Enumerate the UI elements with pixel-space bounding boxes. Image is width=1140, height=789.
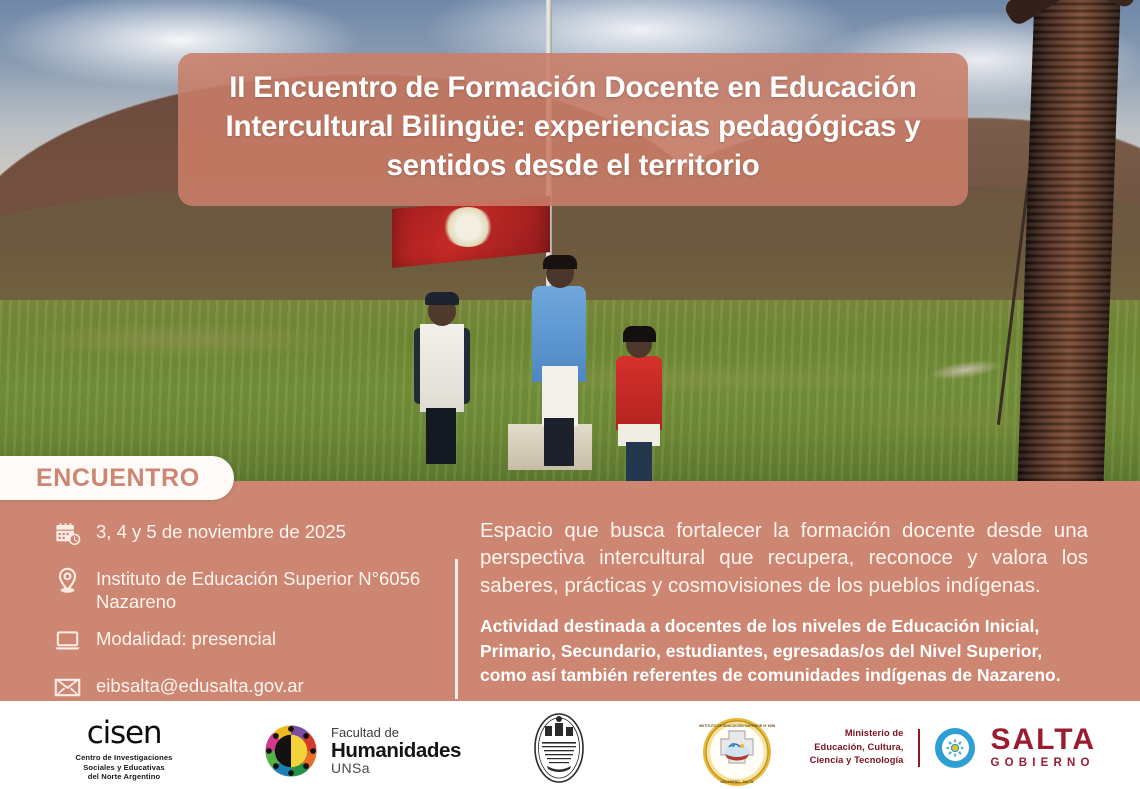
- svg-text:INSTITUTO DE EDUCACIÓN SUPERIO: INSTITUTO DE EDUCACIÓN SUPERIOR Nº 6056: [699, 723, 775, 728]
- cisen-wordmark: cisen: [60, 718, 188, 749]
- ministry-label: Ministerio de Educación, Cultura, Cienci…: [810, 727, 904, 767]
- unsa-line-3: UNSa: [331, 761, 461, 776]
- calendar-clock-icon: [52, 518, 82, 548]
- unsa-university-seal-icon: [533, 712, 585, 784]
- detail-date: 3, 4 y 5 de noviembre de 2025: [52, 518, 456, 548]
- salta-wordmark: SALTA GOBIERNO: [990, 726, 1096, 769]
- unsa-humanidades-circle-icon: [262, 722, 320, 780]
- flag-emblem: [442, 207, 494, 247]
- event-details-list: 3, 4 y 5 de noviembre de 2025 Instituto …: [0, 513, 456, 719]
- description-paragraph: Espacio que busca fortalecer la formació…: [480, 517, 1088, 599]
- title-banner: II Encuentro de Formación Docente en Edu…: [178, 53, 968, 206]
- location-pin-icon: [52, 565, 82, 595]
- child-figure-left: [414, 296, 470, 466]
- unsa-wordmark: Facultad de Humanidades UNSa: [331, 726, 461, 776]
- panel-body: 3, 4 y 5 de noviembre de 2025 Instituto …: [0, 513, 1140, 719]
- detail-modality-text: Modalidad: presencial: [96, 625, 276, 651]
- page-title: II Encuentro de Formación Docente en Edu…: [204, 69, 942, 186]
- section-tab-label: ENCUENTRO: [36, 464, 200, 493]
- detail-date-text: 3, 4 y 5 de noviembre de 2025: [96, 518, 346, 544]
- logo-cisen: cisen Centro de Investigaciones Sociales…: [60, 718, 188, 782]
- laptop-icon: [52, 625, 82, 655]
- audience-paragraph: Actividad destinada a docentes de los ni…: [480, 614, 1088, 689]
- tree-trunk: [1017, 0, 1120, 482]
- detail-venue-text: Instituto de Educación Superior N°6056 N…: [96, 565, 456, 613]
- flyer-root: II Encuentro de Formación Docente en Edu…: [0, 0, 1140, 789]
- salta-sun-shield-icon: [935, 728, 975, 768]
- unsa-line-1: Facultad de: [331, 726, 461, 740]
- envelope-icon: [52, 672, 82, 702]
- detail-email[interactable]: eibsalta@edusalta.gov.ar: [52, 672, 456, 702]
- ies-6056-nazareno-seal-icon: INSTITUTO DE EDUCACIÓN SUPERIOR Nº 6056 …: [699, 716, 775, 788]
- detail-venue: Instituto de Educación Superior N°6056 N…: [52, 565, 456, 613]
- svg-text:NAZARENO - SALTA: NAZARENO - SALTA: [720, 780, 754, 784]
- cisen-subtitle: Centro de Investigaciones Sociales y Edu…: [60, 753, 188, 782]
- info-panel: ENCUENTRO: [0, 481, 1140, 701]
- detail-modality: Modalidad: presencial: [52, 625, 456, 655]
- unsa-line-2: Humanidades: [331, 740, 461, 762]
- salta-name: SALTA: [990, 726, 1096, 755]
- salta-subtitle: GOBIERNO: [990, 758, 1096, 770]
- logo-humanidades-unsa: Facultad de Humanidades UNSa: [262, 722, 461, 780]
- child-figure-right: [612, 330, 668, 480]
- child-figure-center: [528, 258, 590, 468]
- column-divider: [455, 559, 458, 699]
- description-column: Espacio que busca fortalecer la formació…: [456, 513, 1140, 719]
- section-tab-encuentro: ENCUENTRO: [0, 456, 234, 500]
- logo-salta-gobierno: Ministerio de Educación, Cultura, Cienci…: [810, 726, 1096, 769]
- logo-separator: [918, 729, 920, 767]
- detail-email-text: eibsalta@edusalta.gov.ar: [96, 672, 304, 698]
